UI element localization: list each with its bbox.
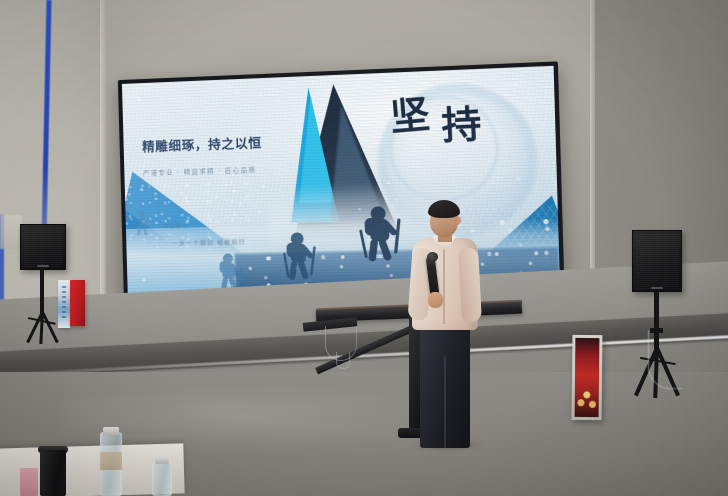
slide-calligraphy: 坚持 [388, 92, 481, 135]
led-video-wall[interactable]: 精雕细琢，持之以恒 严谨专业 · 精益求精 · 匠心品质 不忘初心 一步一个脚印… [118, 61, 565, 308]
presenter-right-arm [458, 248, 482, 323]
poster-artwork [575, 338, 600, 417]
wall-cable [648, 330, 683, 389]
calligraphy-char-1: 坚 [388, 91, 431, 140]
right-speaker-grill [635, 233, 679, 289]
pink-object [20, 468, 38, 496]
calligraphy-char-2: 持 [440, 106, 482, 144]
water-bottle-2-cap [155, 457, 169, 464]
slide-note-top: 不忘初心 [163, 221, 189, 230]
framed-poster [572, 335, 603, 420]
left-speaker-cabinet [20, 224, 66, 270]
left-speaker-badge [37, 265, 49, 267]
presenter-hair [428, 200, 460, 218]
presenter-shirt-placket [443, 246, 445, 324]
slide-note-bottom: 一步一个脚印 砥砺前行 [172, 237, 246, 248]
banner-print [62, 286, 66, 320]
hanging-cable-loop [336, 352, 350, 369]
presenter-hand [428, 292, 443, 308]
water-bottle-1-label [100, 452, 122, 470]
water-bottle-2[interactable] [152, 462, 172, 496]
right-speaker-badge [651, 287, 663, 289]
dark-tumbler[interactable] [40, 450, 66, 496]
presentation-photo-scene: 精雕细琢，持之以恒 严谨专业 · 精益求精 · 匠心品质 不忘初心 一步一个脚印… [0, 0, 728, 496]
left-speaker-grill [23, 227, 63, 267]
slide-headline: 精雕细琢，持之以恒 [142, 132, 262, 155]
distant-climber-icon [134, 210, 153, 238]
climber-lead-icon [357, 203, 407, 262]
presenter-leg-seam [444, 356, 446, 448]
left-wall-corner [100, 0, 106, 330]
presenter [404, 196, 496, 448]
climber-mid-icon [281, 230, 322, 281]
right-speaker-cabinet [632, 230, 682, 292]
roll-up-banner [58, 280, 70, 328]
fire-extinguisher [70, 280, 85, 326]
left-speaker-leg-3 [39, 312, 44, 344]
presenter-ear [455, 216, 461, 225]
water-bottle-1-cap [103, 427, 119, 435]
